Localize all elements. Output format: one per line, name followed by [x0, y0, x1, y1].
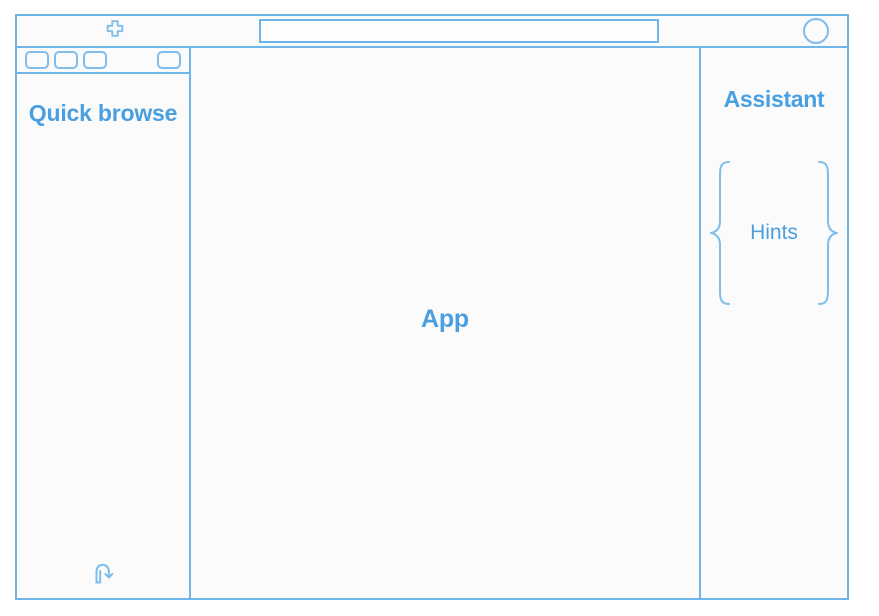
- title-bar: [17, 16, 847, 48]
- circle-avatar-icon[interactable]: [803, 18, 829, 44]
- new-tab-button[interactable]: [101, 18, 129, 44]
- curly-brace-right-icon: [814, 159, 840, 307]
- sidebar-toolbar: [17, 48, 189, 74]
- tool-button-3[interactable]: [83, 51, 107, 69]
- hints-label: Hints: [750, 221, 798, 245]
- sidebar-content: Quick browse: [17, 74, 189, 598]
- plus-icon: [103, 18, 127, 45]
- address-bar-input[interactable]: [259, 19, 659, 43]
- window-body: Quick browse A: [17, 48, 847, 598]
- curly-brace-left-icon: [708, 159, 734, 307]
- tool-button-4[interactable]: [157, 51, 181, 69]
- quick-browse-sidebar: Quick browse: [17, 48, 191, 598]
- u-turn-arrow-icon[interactable]: [89, 557, 119, 592]
- app-window: Quick browse A: [15, 14, 849, 600]
- sidebar-footer: [17, 557, 189, 592]
- assistant-title: Assistant: [724, 86, 825, 113]
- app-panel[interactable]: App: [191, 48, 701, 598]
- assistant-panel: Assistant Hints: [701, 48, 847, 598]
- tool-button-2[interactable]: [54, 51, 78, 69]
- sidebar-title: Quick browse: [28, 99, 178, 128]
- app-label: App: [421, 305, 469, 334]
- tool-button-1[interactable]: [25, 51, 49, 69]
- hints-block: Hints: [712, 159, 836, 307]
